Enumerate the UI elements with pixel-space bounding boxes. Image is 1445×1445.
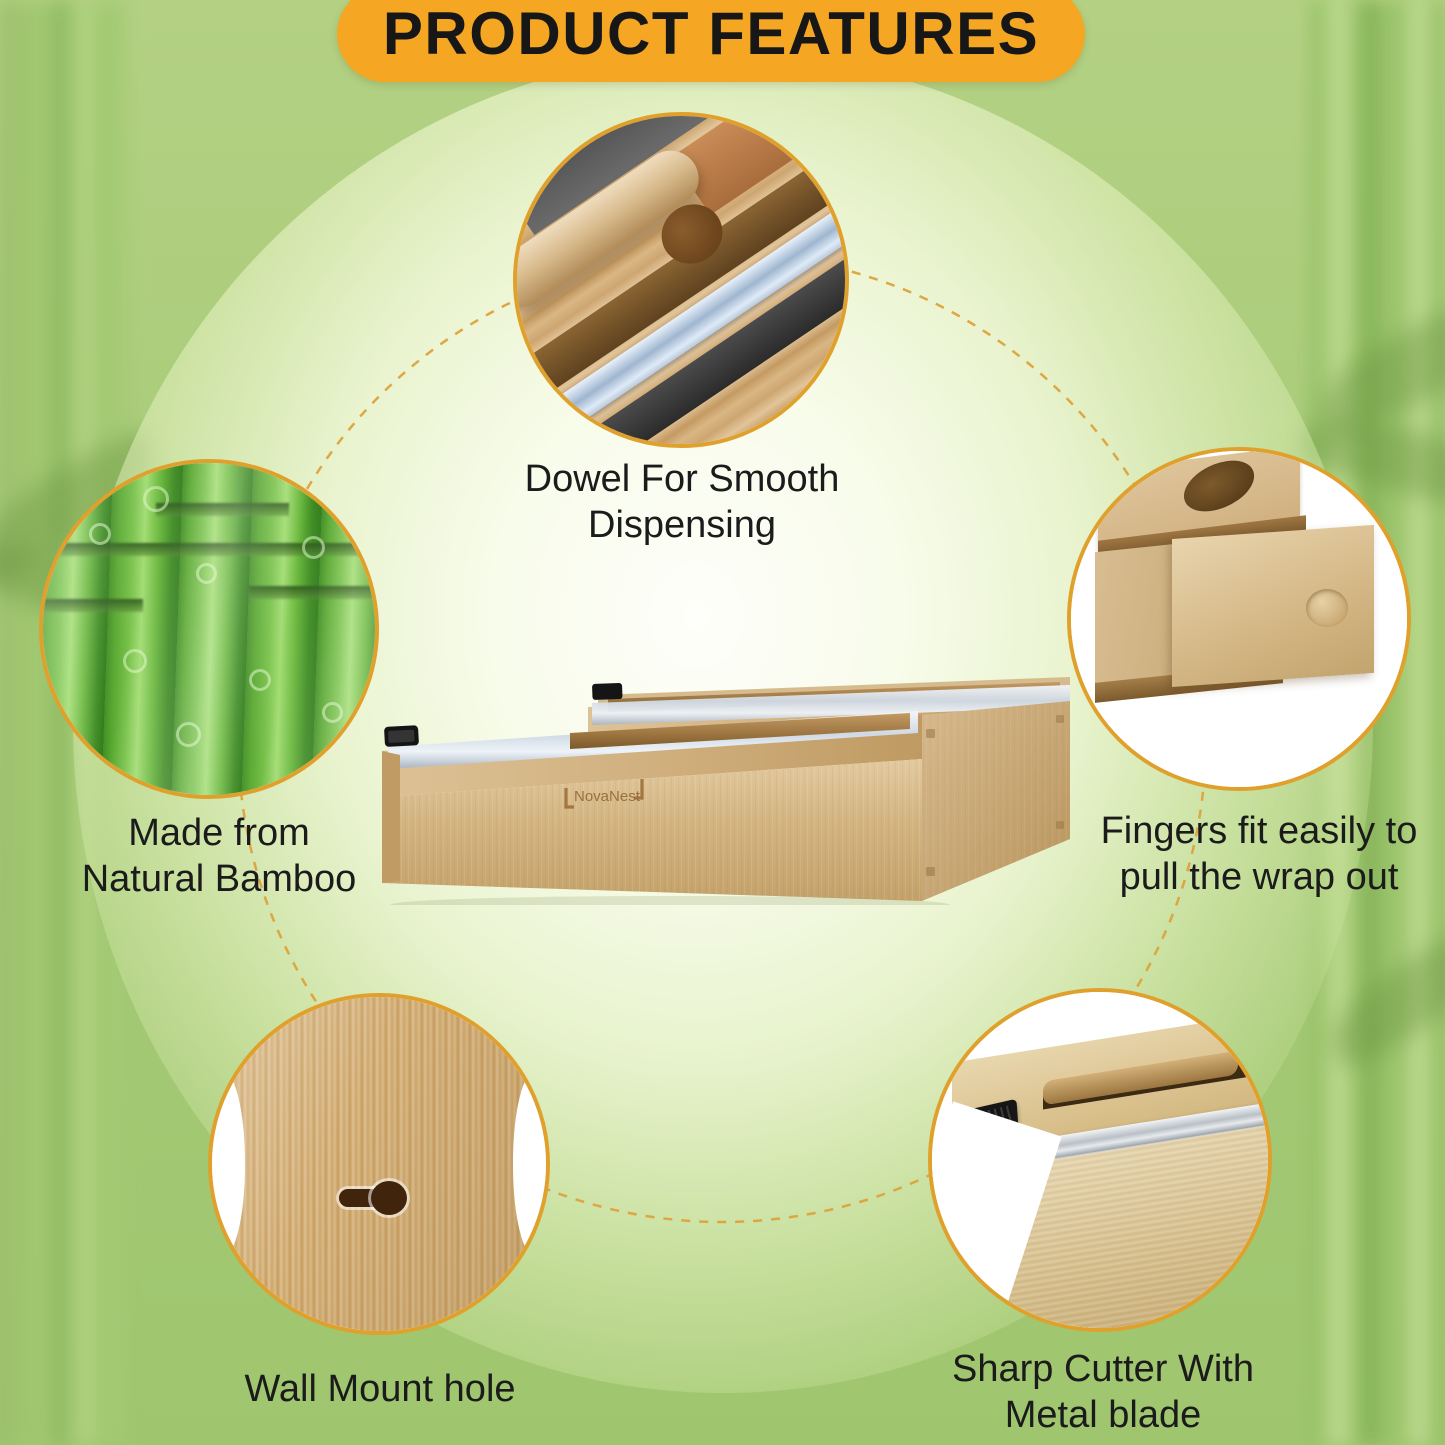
feature-label-cutter-line1: Sharp Cutter With [893, 1346, 1313, 1392]
feature-label-fingers-line2: pull the wrap out [1083, 854, 1435, 900]
feature-label-bamboo: Made from Natural Bamboo [25, 810, 413, 903]
page-title: PRODUCT FEATURES [383, 4, 1039, 64]
product-hero-image: NovaNest [370, 655, 1076, 905]
feature-label-cutter: Sharp Cutter With Metal blade [893, 1346, 1313, 1439]
feature-image-wall-mount [208, 993, 550, 1335]
infographic-canvas: PRODUCT FEATURES [0, 0, 1445, 1445]
feature-label-fingers: Fingers fit easily to pull the wrap out [1083, 808, 1435, 901]
feature-image-bamboo [39, 459, 379, 799]
feature-label-dowel-line1: Dowel For Smooth [478, 456, 886, 502]
feature-label-wall-mount-line1: Wall Mount hole [175, 1366, 585, 1412]
feature-image-cutter [928, 988, 1272, 1332]
feature-label-fingers-line1: Fingers fit easily to [1083, 808, 1435, 854]
feature-label-wall-mount: Wall Mount hole [175, 1366, 585, 1412]
feature-label-dowel-line2: Dispensing [478, 502, 886, 548]
feature-label-bamboo-line2: Natural Bamboo [25, 856, 413, 902]
feature-label-dowel: Dowel For Smooth Dispensing [478, 456, 886, 549]
feature-label-cutter-line2: Metal blade [893, 1392, 1313, 1438]
feature-image-fingers [1067, 447, 1411, 791]
feature-image-dowel [513, 112, 849, 448]
brand-logo-text: NovaNest [574, 788, 641, 805]
keyhole-slot-icon [339, 1181, 413, 1215]
product-features-banner: PRODUCT FEATURES [337, 0, 1085, 82]
feature-label-bamboo-line1: Made from [25, 810, 413, 856]
